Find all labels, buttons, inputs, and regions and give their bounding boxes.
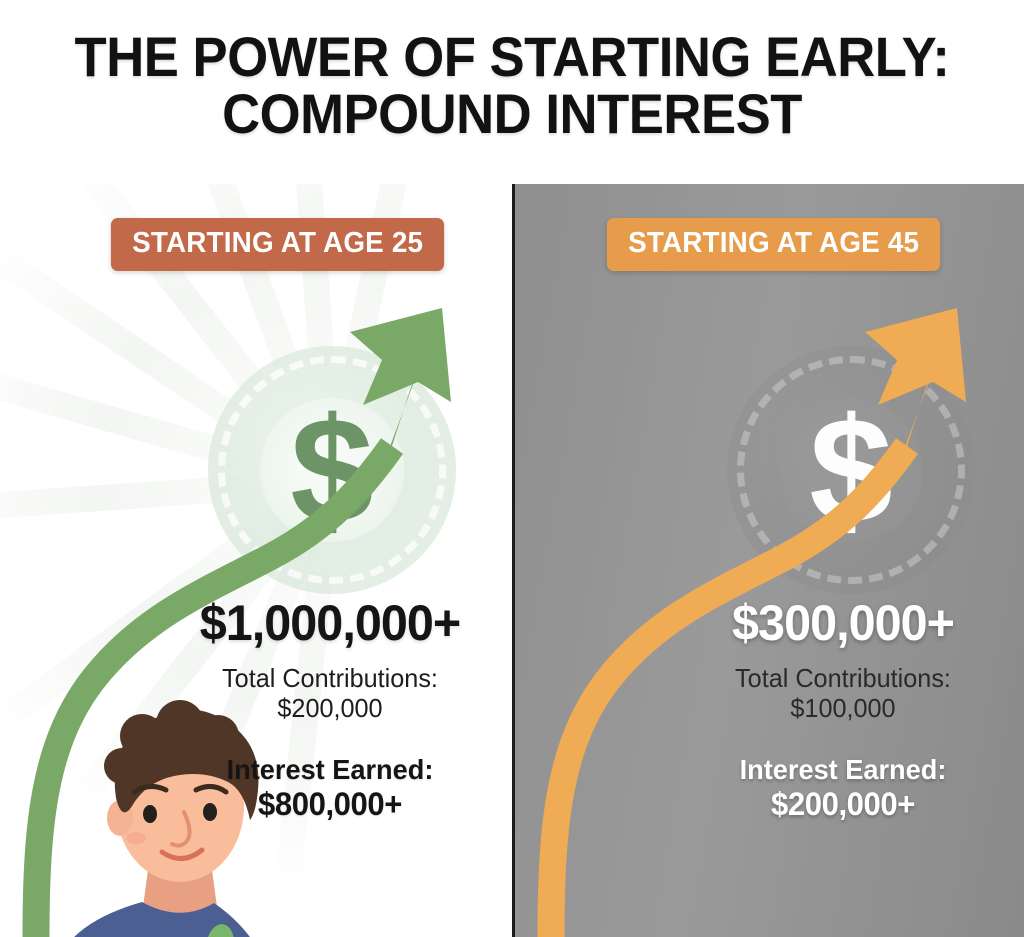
- contributions-value-early: $200,000: [170, 693, 490, 725]
- dollar-sign-icon: $: [208, 346, 456, 594]
- contributions-label-late: Total Contributions:: [683, 664, 1003, 693]
- final-balance-late: $300,000+: [683, 598, 1003, 648]
- badge-starting-age-25[interactable]: STARTING AT AGE 25: [111, 218, 444, 271]
- contributions-label-early: Total Contributions:: [170, 664, 490, 693]
- stats-block-late: $300,000+ Total Contributions: $100,000 …: [678, 598, 1008, 823]
- stats-block-early: $1,000,000+ Total Contributions: $200,00…: [165, 598, 495, 823]
- dollar-sign-icon: $: [727, 346, 975, 594]
- interest-label-late: Interest Earned:: [683, 755, 1003, 786]
- page-title: THE POWER OF STARTING EARLY: COMPOUND IN…: [0, 28, 1024, 142]
- interest-value-early: $800,000+: [170, 786, 490, 824]
- panel-starting-age-45: $: [512, 184, 1024, 937]
- interest-label-early: Interest Earned:: [170, 755, 490, 786]
- title-line-1: THE POWER OF STARTING EARLY:: [31, 28, 994, 85]
- title-line-2: COMPOUND INTEREST: [31, 85, 994, 142]
- panel-starting-age-25: $: [0, 184, 512, 937]
- final-balance-early: $1,000,000+: [170, 598, 490, 648]
- contributions-value-late: $100,000: [683, 693, 1003, 725]
- badge-starting-age-45[interactable]: STARTING AT AGE 45: [607, 218, 940, 271]
- infographic-root: THE POWER OF STARTING EARLY: COMPOUND IN…: [0, 0, 1024, 937]
- interest-value-late: $200,000+: [683, 786, 1003, 824]
